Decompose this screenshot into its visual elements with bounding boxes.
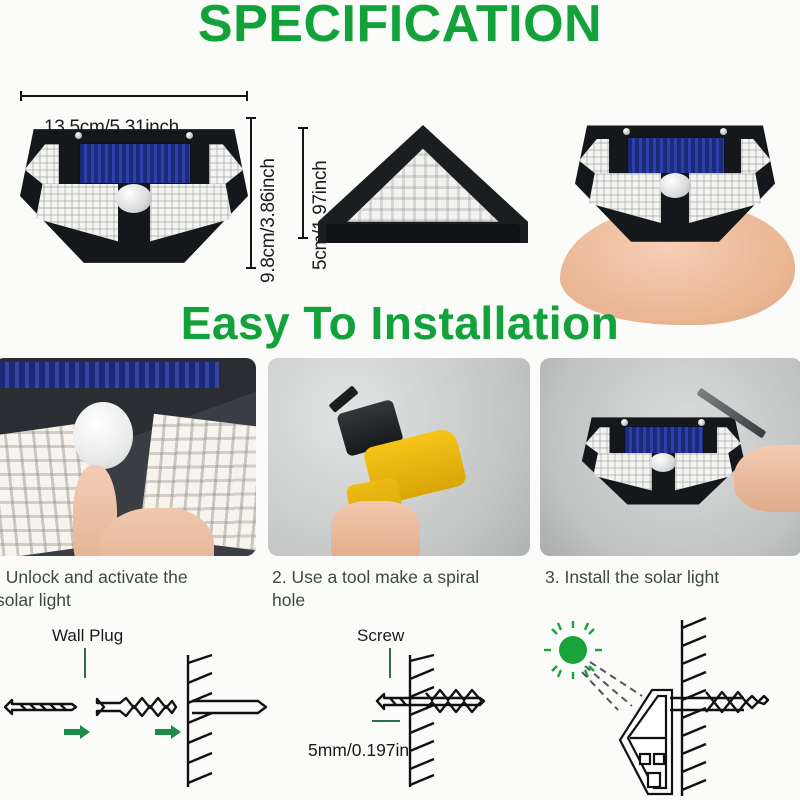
product-front-view <box>20 117 248 269</box>
sensor-dome <box>73 402 133 469</box>
specification-section: 13.5cm/5.31inch 9.8cm/3.86inch 5cm/1.97i… <box>0 55 800 290</box>
dimension-height-line <box>246 117 255 269</box>
screw-through-wall-diagram <box>330 655 530 800</box>
product-side-view <box>318 125 528 243</box>
dimension-height-label: 9.8cm/3.86inch <box>258 158 280 283</box>
install-step-3-photo <box>540 358 800 556</box>
install-step-2-photo <box>268 358 530 556</box>
install-step-1-caption: . Unlock and activate the solar light <box>0 566 211 612</box>
dimension-depth-line <box>298 127 307 239</box>
mounting-diagram <box>530 618 800 798</box>
dimension-width-line <box>20 91 248 100</box>
product-spec-infographic: SPECIFICATION 13.5cm/5.31inch 9.8cm/3.86… <box>0 0 800 800</box>
arrow-icon <box>64 725 181 739</box>
screw-label: Screw <box>357 626 404 646</box>
install-step-2-caption: 2. Use a tool make a spiral hole <box>272 566 487 612</box>
sun-icon <box>544 621 602 679</box>
install-step-1-photo <box>0 358 256 556</box>
motion-sensor-dome <box>116 184 152 213</box>
solar-panel <box>79 143 190 185</box>
wall-plug-label: Wall Plug <box>52 626 123 646</box>
install-step-3-caption: 3. Install the solar light <box>545 566 790 589</box>
installation-heading: Easy To Installation <box>0 296 800 350</box>
specification-heading: SPECIFICATION <box>0 0 800 54</box>
product-in-hand-view <box>575 115 775 247</box>
wall-plug-diagram <box>0 655 270 800</box>
